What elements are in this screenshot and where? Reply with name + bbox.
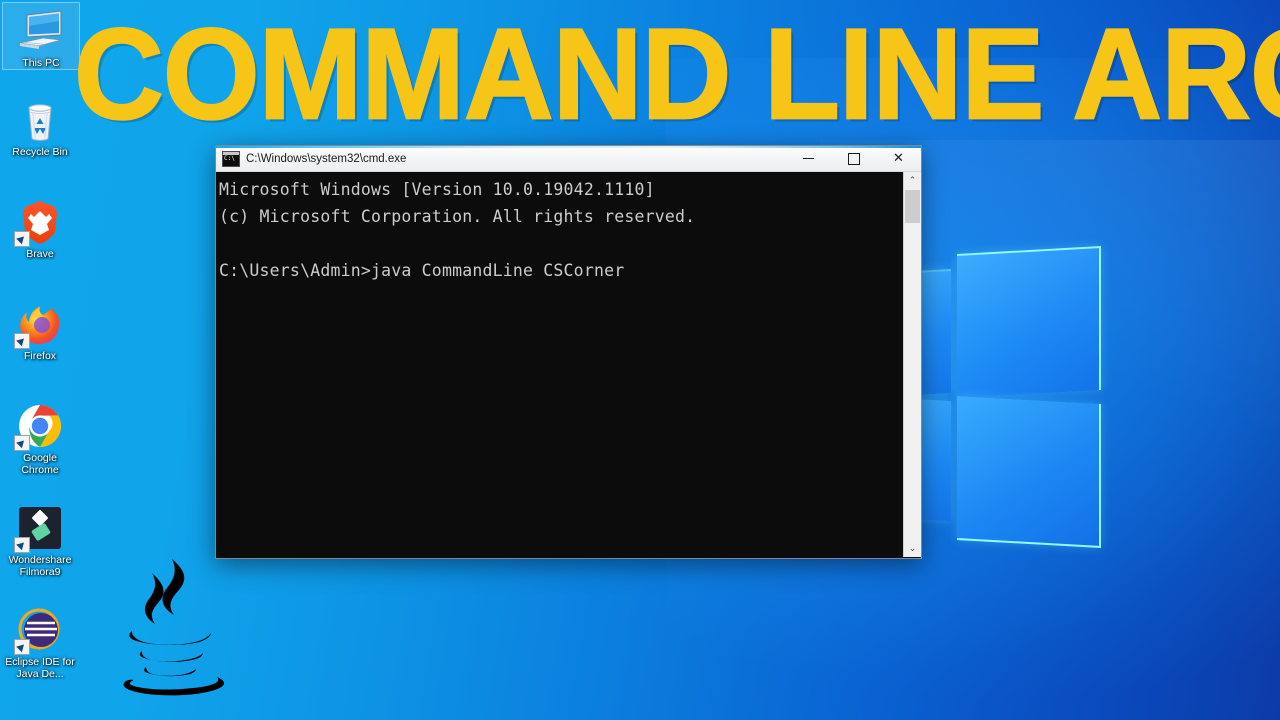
desktop-icon-brave[interactable]: Brave xyxy=(2,194,78,260)
cmd-titlebar[interactable]: C:\Windows\system32\cmd.exe ✕ xyxy=(216,146,921,172)
brave-lion-icon xyxy=(16,198,64,246)
desktop-icon-eclipse-ide[interactable]: Eclipse IDE for Java De... xyxy=(2,602,78,680)
shortcut-arrow-icon xyxy=(14,231,30,247)
desktop-icon-label: Recycle Bin xyxy=(2,146,78,158)
scroll-up-icon[interactable]: ⌃ xyxy=(904,172,921,189)
window-accent-line xyxy=(216,146,921,148)
scrollbar-thumb[interactable] xyxy=(905,190,920,223)
desktop-icon-firefox[interactable]: Firefox xyxy=(2,296,78,362)
eclipse-icon xyxy=(16,606,64,654)
desktop-icon-this-pc[interactable]: This PC xyxy=(2,2,80,70)
java-coffee-cup-logo xyxy=(112,553,242,703)
desktop-icon-label: Google Chrome xyxy=(2,452,78,476)
windows-logo-watermark xyxy=(915,248,1111,548)
terminal-output[interactable]: Microsoft Windows [Version 10.0.19042.11… xyxy=(216,172,903,557)
cmd-prompt-icon xyxy=(222,151,240,167)
firefox-icon xyxy=(16,300,64,348)
shortcut-arrow-icon xyxy=(14,333,30,349)
windows-pane-bottom-right xyxy=(957,396,1101,548)
close-icon: ✕ xyxy=(893,151,904,166)
vertical-scrollbar[interactable]: ⌃ ⌄ xyxy=(903,172,921,557)
desktop-icon-label: Brave xyxy=(2,248,78,260)
minimize-button[interactable] xyxy=(786,146,831,171)
shortcut-arrow-icon xyxy=(14,435,30,451)
recycle-bin-icon xyxy=(16,96,64,144)
cmd-window-title: C:\Windows\system32\cmd.exe xyxy=(246,153,786,165)
close-button[interactable]: ✕ xyxy=(876,146,921,171)
cmd-window[interactable]: C:\Windows\system32\cmd.exe ✕ Microsoft … xyxy=(215,145,922,559)
maximize-icon xyxy=(848,153,860,165)
computer-icon xyxy=(17,7,65,55)
window-controls: ✕ xyxy=(786,146,921,171)
desktop-icon-google-chrome[interactable]: Google Chrome xyxy=(2,398,78,476)
shortcut-arrow-icon xyxy=(14,639,30,655)
maximize-button[interactable] xyxy=(831,146,876,171)
desktop-icon-label: This PC xyxy=(3,57,79,69)
desktop-icon-label: Wondershare Filmora9 xyxy=(2,554,78,578)
scroll-down-icon[interactable]: ⌄ xyxy=(904,540,921,557)
desktop-screen: This PC Recycle Bin xyxy=(0,0,1280,720)
windows-pane-top-right xyxy=(957,246,1101,398)
desktop-icon-label: Eclipse IDE for Java De... xyxy=(2,656,78,680)
chrome-icon xyxy=(16,402,64,450)
minimize-icon xyxy=(803,158,814,159)
desktop-icon-label: Firefox xyxy=(2,350,78,362)
shortcut-arrow-icon xyxy=(14,537,30,553)
desktop-icon-recycle-bin[interactable]: Recycle Bin xyxy=(2,92,78,158)
headline-title: COMMAND LINE ARGUMENTS xyxy=(74,6,1227,144)
desktop-icon-wondershare-filmora[interactable]: Wondershare Filmora9 xyxy=(2,500,78,578)
cmd-body: Microsoft Windows [Version 10.0.19042.11… xyxy=(216,172,921,557)
filmora-icon xyxy=(16,504,64,552)
